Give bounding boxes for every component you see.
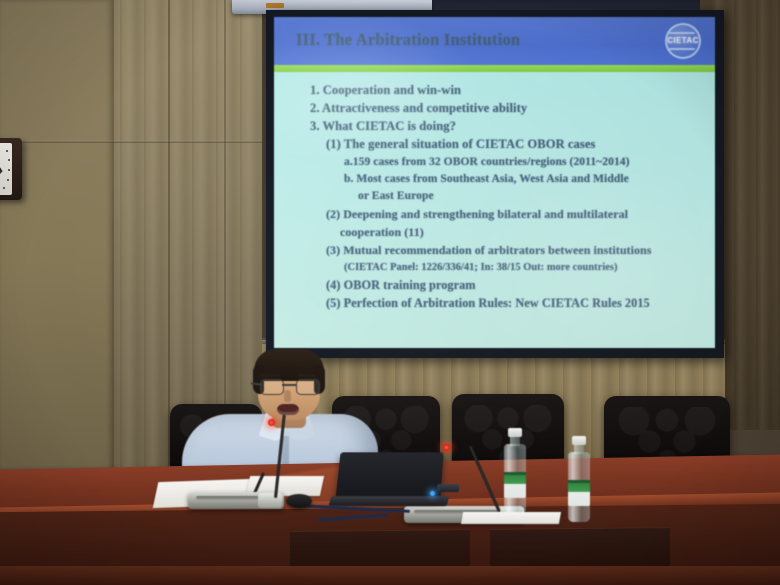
table-panel-2	[490, 527, 670, 571]
roller-label-sticker	[266, 3, 284, 8]
slide-line-12: (4) OBOR training program	[326, 278, 476, 293]
clock-face	[0, 143, 12, 195]
glasses-bridge	[282, 384, 296, 386]
slide-line-13: (5) Perfection of Arbitration Rules: New…	[326, 296, 650, 311]
microphone-led-center	[443, 444, 450, 451]
laptop-power-led	[430, 491, 435, 496]
wall-seam-1	[112, 0, 114, 470]
clock-minute-hand	[0, 158, 3, 172]
slide-line-1: 1. Cooperation and win-win	[310, 83, 461, 98]
slide-line-2: 2. Attractiveness and competitive abilit…	[310, 101, 527, 116]
slide-title: III. The Arbitration Institution	[296, 30, 520, 50]
slide-line-7: or East Europe	[358, 189, 434, 202]
table-puck-device	[286, 494, 312, 508]
slide-text-layer: III. The Arbitration Institution 1. Coop…	[274, 17, 715, 348]
microphone-grille-left	[196, 496, 265, 500]
laptop-screen-lid	[335, 452, 443, 500]
left-wall-panel-section	[0, 0, 112, 470]
conference-table-kickplate	[0, 566, 780, 585]
slide-line-5: a.159 cases from 32 OBOR countries/regio…	[344, 155, 630, 168]
speaker-nose	[284, 390, 291, 402]
bottle-label-right	[568, 480, 590, 506]
projection-screen-frame: CIETAC III. The Arbitration Institution …	[266, 10, 724, 358]
wall-seam-2	[168, 0, 170, 470]
slide-line-10: (3) Mutual recommendation of arbitrators…	[326, 243, 651, 258]
slide-line-9: cooperation (11)	[340, 225, 424, 240]
glasses-lens-left	[260, 379, 284, 395]
slide-line-6: b. Most cases from Southeast Asia, West …	[344, 172, 629, 185]
wall-seam-horizontal	[0, 140, 262, 143]
analog-wall-clock	[0, 138, 22, 200]
slide-line-4: (1) The general situation of CIETAC OBOR…	[326, 137, 595, 152]
speaker-mouth-speaking	[277, 404, 299, 415]
microphone-cap-left	[258, 493, 282, 508]
glasses-lens-right	[296, 379, 320, 395]
slide-line-3: 3. What CIETAC is doing?	[310, 119, 456, 134]
projection-screen-surface: CIETAC III. The Arbitration Institution …	[274, 17, 715, 348]
lecture-photo-scene: CIETAC III. The Arbitration Institution …	[0, 0, 780, 585]
laptop-base	[329, 496, 450, 506]
paper-document-center	[461, 512, 561, 524]
microphone-led-left	[268, 419, 275, 426]
bottle-label-left	[504, 472, 526, 498]
slide-line-11: (CIETAC Panel: 1226/336/41; In: 38/15 Ou…	[344, 262, 618, 273]
slide-line-8: (2) Deepening and strengthening bilatera…	[326, 207, 628, 222]
laptop-port-block	[437, 484, 459, 492]
